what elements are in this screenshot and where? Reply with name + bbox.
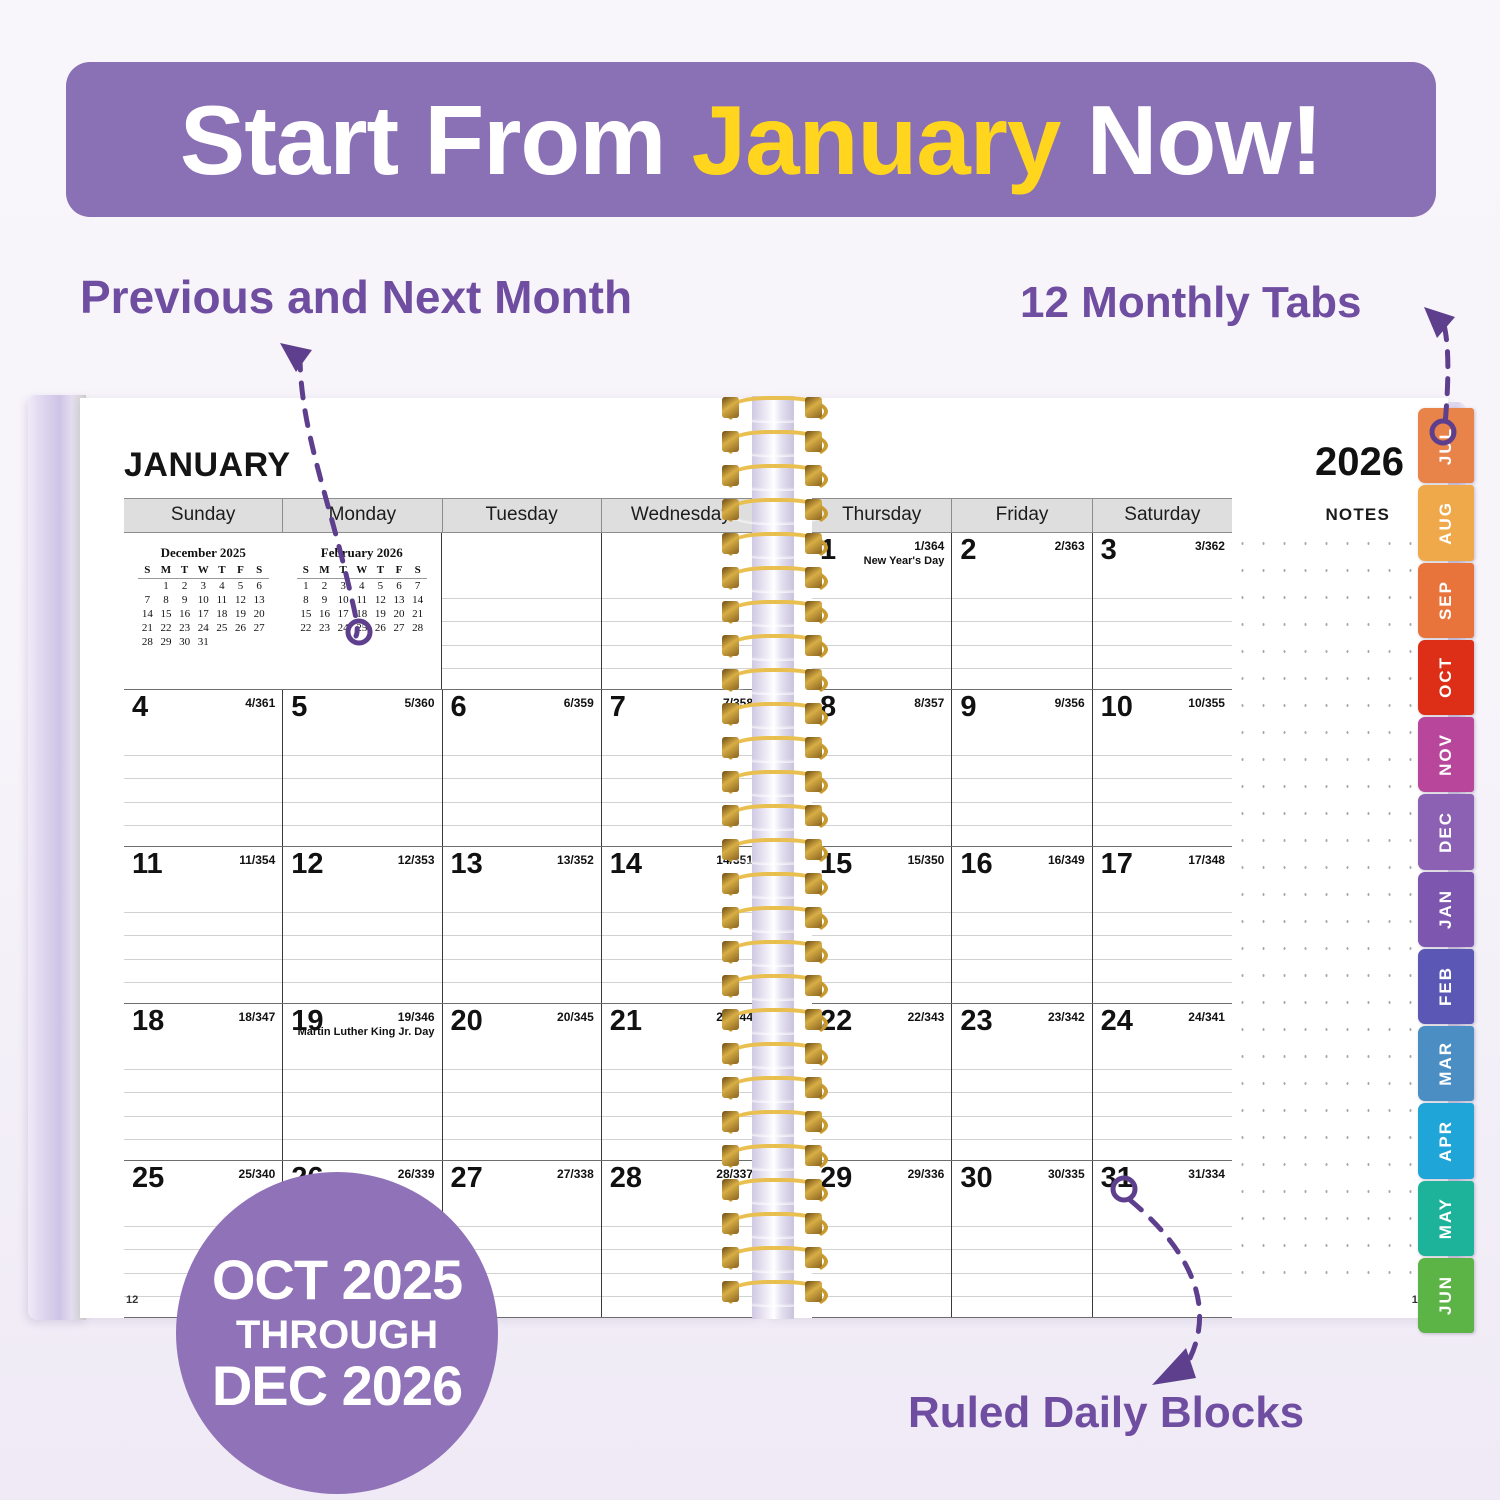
badge-line-2: THROUGH	[236, 1315, 438, 1356]
month-tab-oct[interactable]: OCT	[1418, 640, 1474, 715]
mini-week-row: 78910111213	[138, 593, 269, 607]
month-tab-apr[interactable]: APR	[1418, 1103, 1474, 1178]
month-tab-label: MAY	[1436, 1197, 1456, 1239]
mini-day: 28	[138, 635, 157, 649]
spiral-coil	[724, 1110, 820, 1136]
day-of-year: 9/356	[1055, 696, 1085, 710]
mini-day: 16	[315, 607, 334, 621]
calendar-week-row: 1515/3501616/3491717/348	[812, 847, 1232, 1004]
month-tab-label: NOV	[1436, 733, 1456, 776]
page-title: JANUARY	[124, 446, 291, 485]
mini-day: 29	[157, 635, 176, 649]
mini-day: 12	[231, 593, 250, 607]
day-of-year: 29/336	[908, 1167, 945, 1181]
day-number: 12	[291, 850, 323, 879]
mini-calendar[interactable]: February 2026SMTWTFS12345678910111213141…	[283, 533, 442, 689]
day-cell[interactable]: 2424/341	[1092, 1004, 1232, 1160]
day-cell[interactable]: 22/363	[951, 533, 1091, 689]
mini-day: 21	[138, 621, 157, 635]
day-of-year: 24/341	[1188, 1010, 1225, 1024]
weekday-header-row: SundayMondayTuesdayWednesday	[124, 498, 760, 533]
mini-day: 4	[213, 579, 232, 594]
spiral-coil	[724, 1042, 820, 1068]
ruled-lines[interactable]	[443, 732, 601, 846]
mini-day: 19	[231, 607, 250, 621]
mini-day: 5	[231, 579, 250, 594]
day-number: 30	[960, 1164, 992, 1193]
calendar-week-row: 1111/3541212/3531313/3521414/351	[124, 847, 760, 1004]
mini-day: 11	[352, 593, 371, 607]
day-of-year: 2/363	[1055, 539, 1085, 553]
day-cell[interactable]: 1717/348	[1092, 847, 1232, 1003]
day-of-year: 13/352	[557, 853, 594, 867]
spiral-coil	[724, 600, 820, 626]
mini-weekday: T	[213, 564, 232, 579]
day-of-year: 30/335	[1048, 1167, 1085, 1181]
day-of-year: 4/361	[245, 696, 275, 710]
day-number: 24	[1101, 1007, 1133, 1036]
mini-day: 6	[250, 579, 269, 594]
spiral-coil	[724, 668, 820, 694]
mini-weekday: F	[231, 564, 250, 579]
badge-line-3: DEC 2026	[212, 1357, 462, 1414]
mini-weekday: W	[352, 564, 371, 579]
notes-label: NOTES	[1325, 505, 1390, 525]
mini-day: 10	[334, 593, 353, 607]
ruled-lines[interactable]	[283, 889, 441, 1003]
weekday-header: Saturday	[1092, 499, 1232, 532]
mini-day	[231, 635, 250, 649]
mini-day: 24	[194, 621, 213, 635]
ruled-lines[interactable]	[442, 575, 601, 689]
mini-day: 9	[175, 593, 194, 607]
day-number: 13	[451, 850, 483, 879]
mini-day: 20	[390, 607, 409, 621]
spiral-coil	[724, 736, 820, 762]
day-number: 3	[1101, 536, 1117, 565]
mini-day: 18	[352, 607, 371, 621]
mini-week-row: 21222324252627	[138, 621, 269, 635]
mini-weekday: T	[334, 564, 353, 579]
ruled-lines[interactable]	[952, 1203, 1091, 1317]
mini-weekday: S	[297, 564, 316, 579]
day-cell[interactable]: 33/362	[1092, 533, 1232, 689]
mini-calendar-title: February 2026	[297, 545, 428, 561]
mini-day: 2	[315, 579, 334, 594]
month-tab-label: SEP	[1436, 580, 1456, 620]
weekday-header: Tuesday	[442, 499, 601, 532]
mini-week-row: 14151617181920	[138, 607, 269, 621]
day-cell[interactable]: 99/356	[951, 690, 1091, 846]
day-cell[interactable]: 1010/355	[1092, 690, 1232, 846]
mini-day: 25	[213, 621, 232, 635]
month-tab-sep[interactable]: SEP	[1418, 563, 1474, 638]
day-cell[interactable]: 3030/335	[951, 1161, 1091, 1317]
book-cover-left-edge	[28, 395, 86, 1320]
spiral-coil	[724, 974, 820, 1000]
mini-day: 10	[194, 593, 213, 607]
promo-banner-text: Start From January Now!	[180, 91, 1322, 189]
banner-text-before: Start From	[180, 85, 692, 195]
day-number: 16	[960, 850, 992, 879]
ruled-lines[interactable]	[952, 889, 1091, 1003]
month-tab-label: DEC	[1436, 811, 1456, 853]
mini-day: 19	[371, 607, 390, 621]
calendar-week-row: 2929/3363030/3353131/334	[812, 1161, 1232, 1318]
day-number: 14	[610, 850, 642, 879]
month-tab-label: JUL	[1436, 427, 1456, 465]
day-number: 4	[132, 693, 148, 722]
day-number: 11	[132, 850, 163, 879]
page-year: 2026	[1315, 440, 1404, 485]
weekday-header: Sunday	[124, 499, 282, 532]
mini-day	[250, 635, 269, 649]
mini-day: 16	[175, 607, 194, 621]
holiday-label: Martin Luther King Jr. Day	[298, 1026, 435, 1038]
month-tab-feb[interactable]: FEB	[1418, 949, 1474, 1024]
mini-day: 7	[138, 593, 157, 607]
spiral-coil	[724, 1144, 820, 1170]
mini-weekday: F	[390, 564, 409, 579]
spiral-coil	[724, 702, 820, 728]
mini-week-row: 891011121314	[297, 593, 428, 607]
holiday-label: New Year's Day	[864, 555, 945, 567]
day-of-year: 22/343	[908, 1010, 945, 1024]
day-number: 25	[132, 1164, 164, 1193]
spiral-coil	[724, 532, 820, 558]
calendar-week-row: 11/364New Year's Day22/36333/362	[812, 533, 1232, 690]
spiral-coil	[724, 1280, 820, 1306]
spiral-coil	[724, 430, 820, 456]
day-number: 23	[960, 1007, 992, 1036]
day-number: 18	[132, 1007, 164, 1036]
mini-day: 8	[157, 593, 176, 607]
mini-day: 13	[390, 593, 409, 607]
month-tab-label: OCT	[1436, 656, 1456, 698]
day-cell[interactable]: 1212/353	[282, 847, 441, 1003]
mini-day: 7	[408, 579, 427, 594]
mini-weekday: M	[157, 564, 176, 579]
mini-weekday: S	[138, 564, 157, 579]
mini-day: 14	[408, 593, 427, 607]
day-number: 20	[451, 1007, 483, 1036]
day-cell[interactable]: 1818/347	[124, 1004, 282, 1160]
date-range-badge: OCT 2025 THROUGH DEC 2026	[176, 1172, 498, 1494]
mini-day: 8	[297, 593, 316, 607]
day-cell[interactable]: 1313/352	[442, 847, 601, 1003]
day-of-year: 5/360	[404, 696, 434, 710]
mini-week-row: 1234567	[297, 579, 428, 594]
month-tab-nov[interactable]: NOV	[1418, 717, 1474, 792]
ruled-lines[interactable]	[1093, 1203, 1232, 1317]
spiral-coil	[724, 1212, 820, 1238]
mini-day: 9	[315, 593, 334, 607]
mini-calendar[interactable]: December 2025SMTWTFS12345678910111213141…	[124, 533, 283, 689]
month-tab-label: MAR	[1436, 1041, 1456, 1086]
spiral-coil	[724, 464, 820, 490]
ruled-lines[interactable]	[1093, 732, 1232, 846]
day-of-year: 27/338	[557, 1167, 594, 1181]
day-number: 21	[610, 1007, 642, 1036]
ruled-lines[interactable]	[443, 889, 601, 1003]
spiral-coil	[724, 872, 820, 898]
day-of-year: 8/357	[914, 696, 944, 710]
spiral-coil	[724, 940, 820, 966]
mini-day	[213, 635, 232, 649]
day-number: 31	[1101, 1164, 1133, 1193]
spiral-coil	[724, 838, 820, 864]
mini-day: 26	[231, 621, 250, 635]
mini-weekday: T	[175, 564, 194, 579]
banner-text-after: Now!	[1060, 85, 1322, 195]
mini-calendar-title: December 2025	[138, 545, 269, 561]
spiral-coil	[724, 396, 820, 422]
day-of-year: 20/345	[557, 1010, 594, 1024]
mini-day: 3	[334, 579, 353, 594]
day-number: 17	[1101, 850, 1133, 879]
month-tab-label: JAN	[1436, 889, 1456, 929]
day-of-year: 23/342	[1048, 1010, 1085, 1024]
mini-day: 25	[352, 621, 371, 635]
mini-day: 23	[315, 621, 334, 635]
mini-day: 18	[213, 607, 232, 621]
annotation-ruled-daily-blocks: Ruled Daily Blocks	[908, 1388, 1304, 1438]
calendar-week-row: December 2025SMTWTFS12345678910111213141…	[124, 533, 760, 690]
calendar-grid-right: ThursdayFridaySaturday11/364New Year's D…	[812, 498, 1232, 1318]
mini-day: 27	[250, 621, 269, 635]
mini-day: 12	[371, 593, 390, 607]
ruled-lines[interactable]	[1093, 889, 1232, 1003]
mini-week-row: 28293031	[138, 635, 269, 649]
day-number: 10	[1101, 693, 1133, 722]
day-number: 9	[960, 693, 976, 722]
ruled-lines[interactable]	[283, 732, 441, 846]
mini-day: 1	[297, 579, 316, 594]
mini-week-row: 15161718192021	[297, 607, 428, 621]
day-cell[interactable]: 44/361	[124, 690, 282, 846]
month-tab-aug[interactable]: AUG	[1418, 485, 1474, 560]
calendar-week-row: 1818/3471919/346Martin Luther King Jr. D…	[124, 1004, 760, 1161]
spiral-coil	[724, 804, 820, 830]
mini-day: 22	[157, 621, 176, 635]
day-of-year: 25/340	[239, 1167, 276, 1181]
day-of-year: 12/353	[398, 853, 435, 867]
spiral-coil	[724, 1178, 820, 1204]
day-cell[interactable]: 3131/334	[1092, 1161, 1232, 1317]
mini-day: 23	[175, 621, 194, 635]
day-of-year: 26/339	[398, 1167, 435, 1181]
mini-day: 21	[408, 607, 427, 621]
calendar-week-row: 88/35799/3561010/355	[812, 690, 1232, 847]
mini-day: 14	[138, 607, 157, 621]
mini-calendars-wrap: December 2025SMTWTFS12345678910111213141…	[124, 533, 441, 689]
spiral-coil	[724, 1246, 820, 1272]
spiral-coil	[724, 634, 820, 660]
mini-day: 15	[157, 607, 176, 621]
day-number: 7	[610, 693, 626, 722]
day-number: 6	[451, 693, 467, 722]
month-tab-label: JUN	[1436, 1275, 1456, 1315]
planner-page-right: 2026 NOTES ThursdayFridaySaturday11/364N…	[768, 398, 1448, 1318]
weekday-header-row: ThursdayFridaySaturday	[812, 498, 1232, 533]
mini-day: 17	[194, 607, 213, 621]
mini-day	[138, 579, 157, 594]
planner-book: JANUARY SundayMondayTuesdayWednesdayDece…	[28, 390, 1480, 1325]
calendar-week-row: 44/36155/36066/35977/358	[124, 690, 760, 847]
day-cell[interactable]: 66/359	[442, 690, 601, 846]
mini-calendars-cell[interactable]: December 2025SMTWTFS12345678910111213141…	[124, 533, 441, 689]
month-tab-strip[interactable]: JULAUGSEPOCTNOVDECJANFEBMARAPRMAYJUN	[1418, 408, 1480, 1333]
mini-day: 17	[334, 607, 353, 621]
day-of-year: 16/349	[1048, 853, 1085, 867]
weekday-header: Monday	[282, 499, 441, 532]
ruled-lines[interactable]	[952, 575, 1091, 689]
mini-day: 28	[408, 621, 427, 635]
mini-day: 13	[250, 593, 269, 607]
spiral-coil	[724, 1076, 820, 1102]
ruled-lines[interactable]	[124, 732, 282, 846]
spiral-binding	[714, 390, 834, 1325]
spiral-coil	[724, 906, 820, 932]
day-of-year: 6/359	[564, 696, 594, 710]
month-tab-mar[interactable]: MAR	[1418, 1026, 1474, 1101]
spiral-coil	[724, 566, 820, 592]
mini-day: 3	[194, 579, 213, 594]
annotation-previous-next-month: Previous and Next Month	[80, 270, 632, 324]
ruled-lines[interactable]	[1093, 575, 1232, 689]
month-tab-may[interactable]: MAY	[1418, 1181, 1474, 1256]
day-number: 5	[291, 693, 307, 722]
mini-day: 31	[194, 635, 213, 649]
day-cell[interactable]: 1111/354	[124, 847, 282, 1003]
day-of-year: 11/354	[239, 853, 275, 867]
day-of-year: 19/346	[398, 1010, 435, 1024]
calendar-grid-left: SundayMondayTuesdayWednesdayDecember 202…	[124, 498, 760, 1318]
mini-day: 26	[371, 621, 390, 635]
day-cell[interactable]: 55/360	[282, 690, 441, 846]
mini-day: 1	[157, 579, 176, 594]
mini-weekday: W	[194, 564, 213, 579]
day-of-year: 1/364	[914, 539, 944, 553]
day-of-year: 3/362	[1195, 539, 1225, 553]
mini-day: 27	[390, 621, 409, 635]
mini-day: 15	[297, 607, 316, 621]
mini-day: 22	[297, 621, 316, 635]
mini-day: 20	[250, 607, 269, 621]
ruled-lines[interactable]	[283, 1046, 441, 1160]
weekday-header: Friday	[951, 499, 1091, 532]
ruled-lines[interactable]	[1093, 1046, 1232, 1160]
page-number-left: 12	[126, 1294, 138, 1306]
mini-day: 2	[175, 579, 194, 594]
month-tab-jun[interactable]: JUN	[1418, 1258, 1474, 1333]
ruled-lines[interactable]	[952, 1046, 1091, 1160]
mini-weekday: T	[371, 564, 390, 579]
ruled-lines[interactable]	[124, 1046, 282, 1160]
month-tab-dec[interactable]: DEC	[1418, 794, 1474, 869]
spiral-coil	[724, 1008, 820, 1034]
day-of-year: 17/348	[1188, 853, 1225, 867]
month-tab-label: APR	[1436, 1120, 1456, 1162]
mini-day: 24	[334, 621, 353, 635]
mini-weekday: M	[315, 564, 334, 579]
day-cell[interactable]	[441, 533, 601, 689]
day-cell[interactable]: 1919/346Martin Luther King Jr. Day	[282, 1004, 441, 1160]
planner-page-left: JANUARY SundayMondayTuesdayWednesdayDece…	[80, 398, 760, 1318]
month-tab-jul[interactable]: JUL	[1418, 408, 1474, 483]
notes-dot-grid[interactable]	[1232, 530, 1428, 1282]
month-tab-jan[interactable]: JAN	[1418, 872, 1474, 947]
mini-week-row: 22232425262728	[297, 621, 428, 635]
mini-day: 11	[213, 593, 232, 607]
badge-line-1: OCT 2025	[212, 1251, 462, 1308]
calendar-week-row: 2222/3432323/3422424/341	[812, 1004, 1232, 1161]
banner-text-highlight: January	[692, 85, 1061, 195]
mini-day: 6	[390, 579, 409, 594]
day-of-year: 18/347	[239, 1010, 276, 1024]
mini-weekday: S	[408, 564, 427, 579]
mini-day: 4	[352, 579, 371, 594]
mini-day: 5	[371, 579, 390, 594]
day-number: 2	[960, 536, 976, 565]
day-of-year: 31/334	[1188, 1167, 1225, 1181]
month-tab-label: AUG	[1436, 501, 1456, 545]
ruled-lines[interactable]	[124, 889, 282, 1003]
annotation-monthly-tabs: 12 Monthly Tabs	[1020, 278, 1361, 328]
mini-weekday: S	[250, 564, 269, 579]
promo-banner: Start From January Now!	[66, 62, 1436, 217]
day-of-year: 10/355	[1188, 696, 1225, 710]
day-cell[interactable]: 2020/345	[442, 1004, 601, 1160]
ruled-lines[interactable]	[952, 732, 1091, 846]
spiral-coil	[724, 770, 820, 796]
day-cell[interactable]: 2323/342	[951, 1004, 1091, 1160]
day-number: 28	[610, 1164, 642, 1193]
day-cell[interactable]: 1616/349	[951, 847, 1091, 1003]
mini-day: 30	[175, 635, 194, 649]
day-of-year: 15/350	[908, 853, 945, 867]
day-number: 27	[451, 1164, 483, 1193]
mini-week-row: 123456	[138, 579, 269, 594]
spiral-coil	[724, 498, 820, 524]
month-tab-label: FEB	[1436, 966, 1456, 1006]
ruled-lines[interactable]	[443, 1046, 601, 1160]
